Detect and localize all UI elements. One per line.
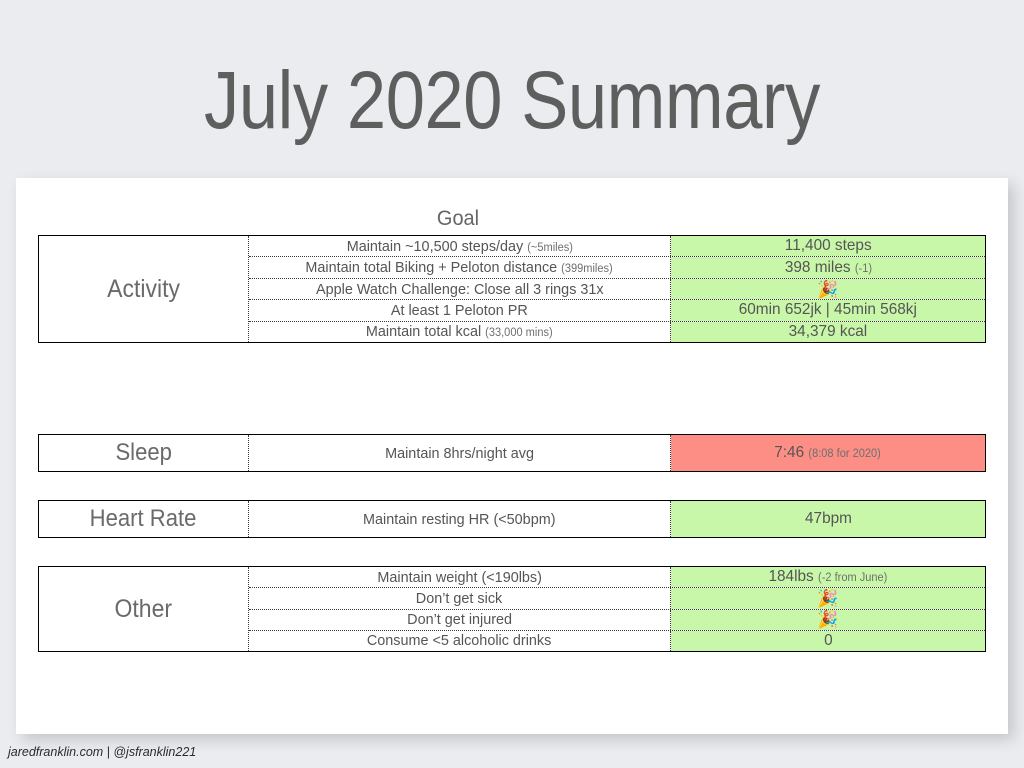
result-text-wrap: 34,379 kcal [789,323,868,341]
result-cell: 184lbs (-2 from June) [671,567,985,587]
category-cell: Other [39,567,249,651]
goal-cell: Consume <5 alcoholic drinks [249,631,671,651]
result-cell: 7:46 (8:08 for 2020) [671,435,985,471]
category-label: Heart Rate [90,505,197,533]
table-row: Apple Watch Challenge: Close all 3 rings… [249,279,985,300]
result-text: 7:46 [775,444,805,461]
table-row: Maintain resting HR (<50bpm)47bpm [249,501,985,537]
goal-text-wrap: Maintain resting HR (<50bpm) [363,511,555,528]
goal-text-wrap: Maintain 8hrs/night avg [385,445,534,462]
goal-cell: Maintain ~10,500 steps/day (~5miles) [249,236,671,256]
goal-cell: Don’t get sick [249,588,671,608]
result-text-wrap: 60min 652jk | 45min 568kj [739,301,917,319]
result-text-wrap: 11,400 steps [785,237,872,255]
result-text-wrap: 398 miles (-1) [784,259,871,277]
category-cell: Heart Rate [39,501,249,537]
goal-text-wrap: Maintain weight (<190lbs) [377,569,541,586]
result-cell: 🎉 [671,610,985,630]
goal-text: Maintain total kcal [366,323,481,340]
goal-text-wrap: Maintain ~10,500 steps/day (~5miles) [346,238,572,255]
goal-cell: Maintain weight (<190lbs) [249,567,671,587]
goal-text: Consume <5 alcoholic drinks [367,632,552,649]
result-cell: 34,379 kcal [671,322,985,342]
goal-text-wrap: At least 1 Peloton PR [391,302,528,319]
summary-card: Goal ActivityMaintain ~10,500 steps/day … [16,178,1008,734]
goal-text-wrap: Maintain total kcal (33,000 mins) [366,323,553,340]
goal-cell: Maintain total Biking + Peloton distance… [249,257,671,277]
result-cell: 47bpm [671,501,985,537]
result-text: 47bpm [805,510,852,527]
goal-text-wrap: Don’t get sick [416,590,502,607]
rows-container: Maintain resting HR (<50bpm)47bpm [249,501,985,537]
table-row: Don’t get injured🎉 [249,610,985,631]
table-row: Don’t get sick🎉 [249,588,985,609]
goal-cell: Maintain resting HR (<50bpm) [249,501,671,537]
result-text: 398 miles [784,259,850,276]
goal-text: Don’t get sick [416,590,502,607]
result-subtext: (-2 from June) [818,572,887,584]
goal-cell: Don’t get injured [249,610,671,630]
goal-text-wrap: Apple Watch Challenge: Close all 3 rings… [316,281,604,298]
result-text: 34,379 kcal [789,323,868,340]
category-label: Other [115,595,173,624]
goal-text: At least 1 Peloton PR [391,302,528,319]
section-activity: ActivityMaintain ~10,500 steps/day (~5mi… [38,235,986,343]
goal-cell: Apple Watch Challenge: Close all 3 rings… [249,279,671,299]
goal-text-wrap: Consume <5 alcoholic drinks [367,632,552,649]
category-cell: Activity [39,236,249,342]
result-text: 184lbs [769,568,814,585]
result-subtext: (-1) [854,263,871,275]
result-text-wrap: 47bpm [805,510,852,528]
table-row: Maintain ~10,500 steps/day (~5miles)11,4… [249,236,985,257]
result-cell: 398 miles (-1) [671,257,985,277]
result-cell: 0 [671,631,985,651]
result-cell: 🎉 [671,279,985,299]
table-row: Maintain total kcal (33,000 mins)34,379 … [249,322,985,342]
result-text: 0 [824,632,833,649]
rows-container: Maintain 8hrs/night avg7:46 (8:08 for 20… [249,435,985,471]
goal-text: Maintain 8hrs/night avg [385,445,534,462]
table-row: Consume <5 alcoholic drinks0 [249,631,985,651]
result-cell: 11,400 steps [671,236,985,256]
party-popper-icon: 🎉 [817,590,838,607]
table-row: Maintain total Biking + Peloton distance… [249,257,985,278]
category-cell: Sleep [39,435,249,471]
goal-cell: At least 1 Peloton PR [249,300,671,320]
rows-container: Maintain ~10,500 steps/day (~5miles)11,4… [249,236,985,342]
footer-credit: jaredfranklin.com | @jsfranklin221 [8,745,196,759]
table-row: At least 1 Peloton PR60min 652jk | 45min… [249,300,985,321]
goal-text-wrap: Don’t get injured [407,611,512,628]
result-subtext: (8:08 for 2020) [809,448,881,460]
goal-column-header: Goal [258,207,659,231]
result-text-wrap: 7:46 (8:08 for 2020) [775,444,882,462]
result-text-wrap: 0 [824,632,833,650]
category-label: Activity [107,275,180,304]
category-label: Sleep [115,439,171,467]
result-text: 60min 652jk | 45min 568kj [739,301,917,318]
section-heart-rate: Heart RateMaintain resting HR (<50bpm)47… [38,500,986,538]
goal-subtext: (399miles) [562,263,614,275]
goal-cell: Maintain 8hrs/night avg [249,435,671,471]
section-other: OtherMaintain weight (<190lbs)184lbs (-2… [38,566,986,652]
goal-text: Maintain total Biking + Peloton distance [306,259,558,276]
goal-text-wrap: Maintain total Biking + Peloton distance… [306,259,613,276]
goal-text: Don’t get injured [407,611,512,628]
goal-text: Maintain weight (<190lbs) [377,569,541,586]
goal-text: Apple Watch Challenge: Close all 3 rings… [316,281,604,298]
table-row: Maintain 8hrs/night avg7:46 (8:08 for 20… [249,435,985,471]
table-row: Maintain weight (<190lbs)184lbs (-2 from… [249,567,985,588]
rows-container: Maintain weight (<190lbs)184lbs (-2 from… [249,567,985,651]
result-text: 11,400 steps [785,237,872,254]
result-cell: 🎉 [671,588,985,608]
party-popper-icon: 🎉 [817,611,838,628]
goal-subtext: (33,000 mins) [485,327,553,339]
goal-cell: Maintain total kcal (33,000 mins) [249,322,671,342]
page-title: July 2020 Summary [72,52,953,150]
goal-subtext: (~5miles) [527,242,573,254]
section-sleep: SleepMaintain 8hrs/night avg7:46 (8:08 f… [38,434,986,472]
goal-text: Maintain resting HR (<50bpm) [363,511,555,528]
goal-text: Maintain ~10,500 steps/day [346,238,523,255]
result-text-wrap: 184lbs (-2 from June) [769,568,888,586]
party-popper-icon: 🎉 [817,281,838,298]
result-cell: 60min 652jk | 45min 568kj [671,300,985,320]
